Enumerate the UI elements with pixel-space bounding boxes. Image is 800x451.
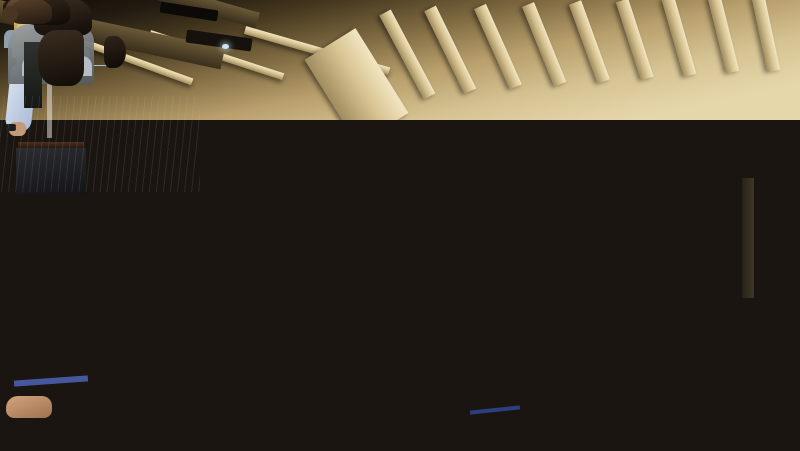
ceiling-downlight bbox=[222, 44, 229, 49]
ceiling-beam bbox=[616, 0, 654, 80]
ceiling-beam bbox=[708, 0, 739, 74]
conference-room-photo: ℘ EU-PARTNERS ? ... i došli smo do kraja… bbox=[0, 0, 800, 451]
hair-bun bbox=[2, 6, 18, 22]
attendee-hair bbox=[38, 30, 84, 86]
ceiling-beam bbox=[662, 0, 697, 77]
attendee-hand bbox=[6, 396, 52, 418]
ceiling-beam bbox=[752, 0, 781, 72]
flipchart-easel-leg bbox=[742, 178, 754, 298]
attendee-hair bbox=[104, 36, 126, 68]
